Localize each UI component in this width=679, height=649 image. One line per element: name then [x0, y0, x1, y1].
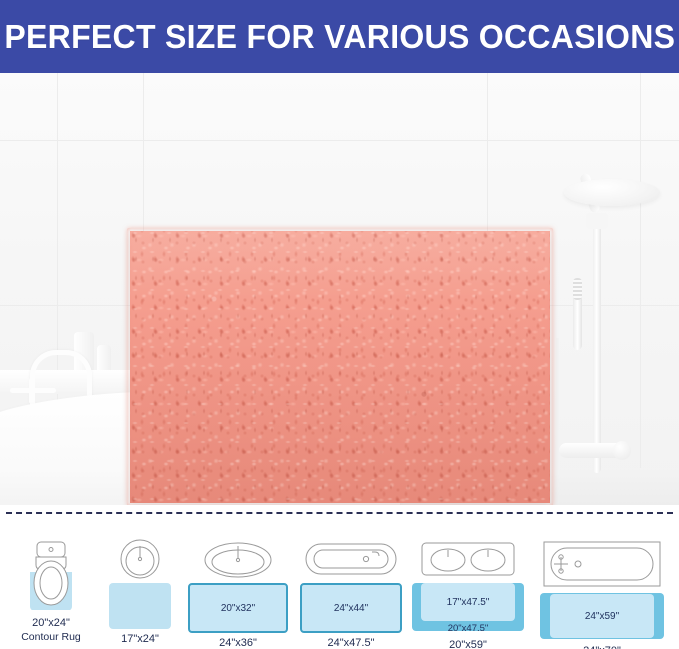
rug-swatch: 20"x32"	[188, 583, 288, 633]
size-caption: 24"x47.5"	[328, 637, 375, 649]
size-caption-main: 20"x24"	[32, 617, 70, 629]
faucet-handle	[29, 378, 34, 404]
toilet-icon	[12, 538, 90, 610]
bath-rug-product	[130, 231, 550, 503]
size-option-17x24: 17"x24"	[100, 538, 180, 647]
header-banner: PERFECT SIZE FOR VARIOUS OCCASIONS	[0, 0, 679, 73]
product-infographic: PERFECT SIZE FOR VARIOUS OCCASIONS	[0, 0, 679, 649]
rain-shower-head-icon	[564, 179, 660, 206]
shower-joint	[586, 213, 608, 229]
size-caption-main: 24"x36"	[219, 637, 257, 649]
size-caption: 24"x70"	[583, 645, 621, 649]
rug-shading	[130, 231, 550, 503]
rug-mid-label: 20"x47.5"	[412, 623, 524, 634]
rug-inner-label: 20"x32"	[221, 603, 255, 614]
rug-swatch: 24"x44"	[300, 583, 402, 633]
valve-knob	[613, 441, 631, 460]
dashed-divider	[6, 512, 673, 514]
size-caption: 17"x24"	[121, 633, 159, 647]
bathtub-icon	[538, 538, 666, 590]
size-option-24x47-5: 24"x44" 24"x47.5"	[298, 538, 404, 649]
double-sink-icon	[412, 538, 524, 580]
rug-swatch-front: 24"x59"	[550, 594, 654, 638]
rug-swatch-layered: 24"x59"	[534, 593, 670, 641]
size-chart: 20"x24" Contour Rug 17"x24"	[0, 524, 679, 649]
rug-swatch	[109, 583, 171, 629]
size-caption-main: 20"x59"	[449, 639, 487, 649]
size-option-20x59: 17"x47.5" 20"x47.5" 20"x59"	[412, 538, 524, 649]
grout-line-horizontal	[0, 140, 679, 141]
rug-swatch-layered: 17"x47.5" 20"x47.5"	[412, 583, 524, 639]
round-sink-icon	[100, 538, 180, 580]
banner-title: PERFECT SIZE FOR VARIOUS OCCASIONS	[4, 18, 675, 56]
rug-inner-label: 17"x47.5"	[447, 597, 490, 608]
grout-line-vertical	[640, 73, 641, 505]
handheld-shower-grip	[573, 278, 582, 300]
size-caption: 20"x24" Contour Rug	[21, 617, 81, 645]
trough-sink-icon	[298, 538, 404, 580]
hero-photo	[0, 73, 679, 505]
rug-inner-label: 24"x59"	[585, 611, 619, 622]
size-option-24x36: 20"x32" 24"x36"	[186, 538, 290, 649]
size-option-contour-rug: 20"x24" Contour Rug	[12, 538, 90, 645]
size-caption-main: 24"x70"	[583, 645, 621, 649]
size-option-24x70: 24"x59" 24"x70"	[534, 538, 670, 649]
rug-inner-label: 24"x44"	[334, 603, 368, 614]
oval-sink-icon	[186, 538, 290, 580]
size-caption: 20"x59"	[449, 639, 487, 649]
shower-riser	[593, 223, 601, 473]
size-caption-sub: Contour Rug	[21, 631, 81, 643]
size-caption: 24"x36"	[219, 637, 257, 649]
size-caption-main: 17"x24"	[121, 633, 159, 645]
rug-swatch-front: 17"x47.5"	[421, 583, 515, 621]
size-caption-main: 24"x47.5"	[328, 637, 375, 649]
